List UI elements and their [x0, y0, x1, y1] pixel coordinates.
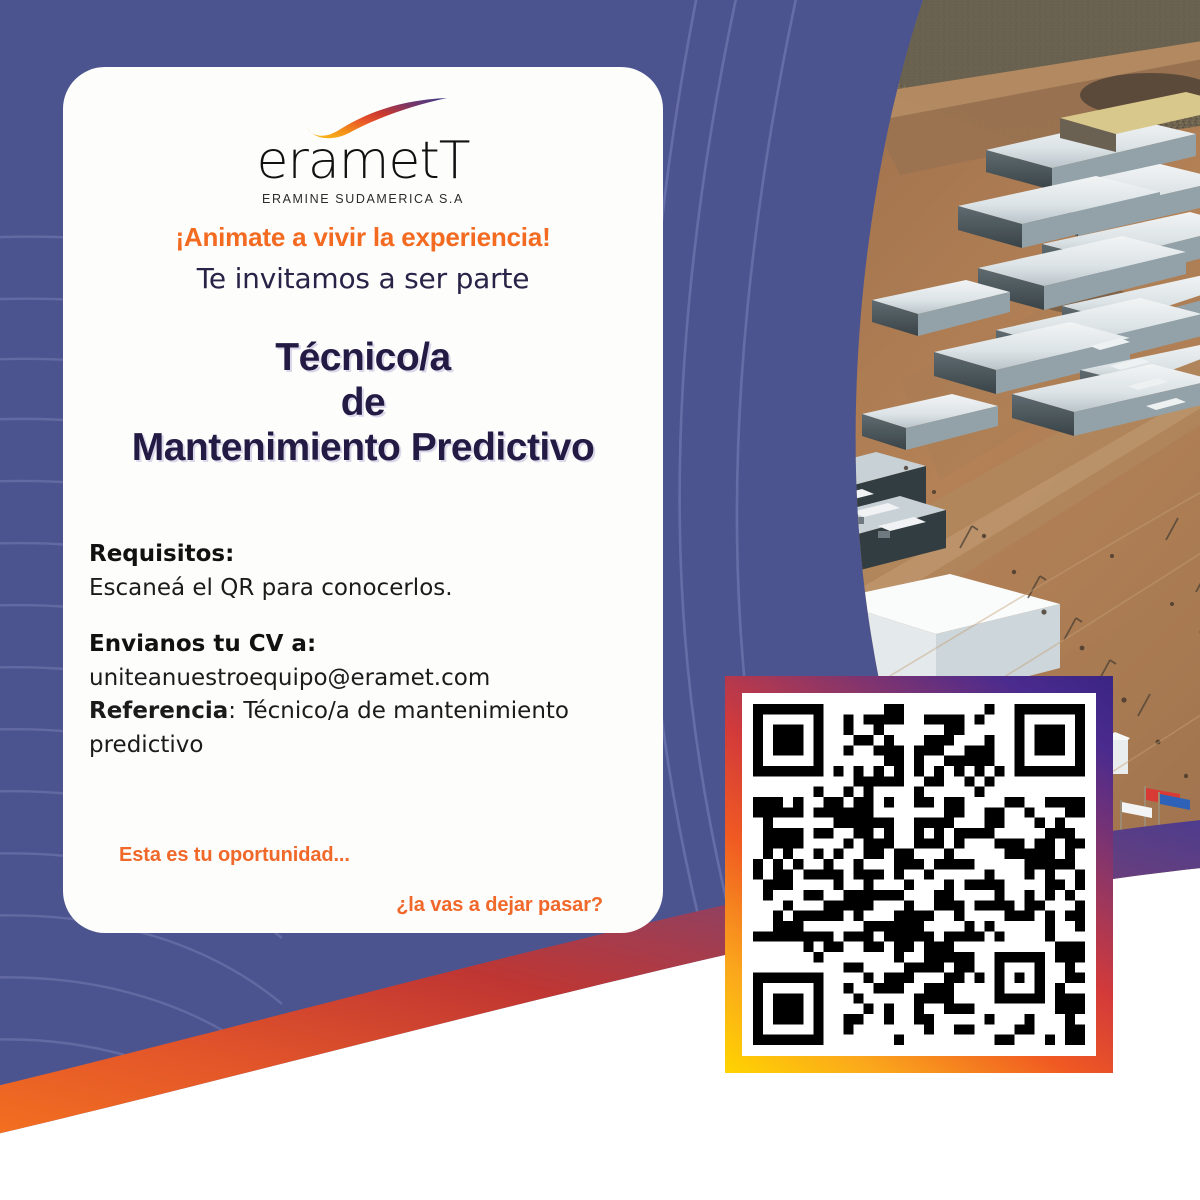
body-content: Requisitos: Escaneá el QR para conocerlo… — [89, 537, 641, 784]
logo-wordmark-cap: T — [439, 131, 470, 191]
poster-root: erametT ERAMINE SUDAMERICA S.A ¡Animate … — [0, 0, 1200, 1200]
requirements-heading: Requisitos: — [89, 537, 641, 572]
subkicker-text: Te invitamos a ser parte — [63, 262, 663, 295]
qr-code-quiet-zone — [742, 693, 1096, 1056]
job-title-line-1: Técnico/a — [63, 335, 663, 380]
reference-label: Referencia — [89, 698, 228, 724]
content-card: erametT ERAMINE SUDAMERICA S.A ¡Animate … — [63, 67, 663, 933]
qr-code[interactable] — [753, 704, 1085, 1045]
logo-wordmark: erametT — [256, 135, 469, 187]
requirements-text: Escaneá el QR para conocerlos. — [89, 572, 641, 606]
logo-wordmark-text: eramet — [256, 131, 438, 191]
kicker-text: ¡Animate a vivir la experiencia! — [63, 222, 663, 253]
job-title-line-3: Mantenimiento Predictivo — [63, 425, 663, 470]
cv-email[interactable]: uniteanuestroequipo@eramet.com — [89, 662, 641, 696]
job-title-line-2: de — [63, 380, 663, 425]
cta-line-2: ¿la vas a dejar pasar? — [396, 894, 603, 917]
cv-heading: Envianos tu CV a: — [89, 627, 641, 662]
page-title: Técnico/a de Mantenimiento Predictivo — [63, 335, 663, 471]
eramet-logo: erametT ERAMINE SUDAMERICA S.A — [63, 97, 663, 206]
logo-subtitle: ERAMINE SUDAMERICA S.A — [262, 192, 464, 206]
requirements-block: Requisitos: Escaneá el QR para conocerlo… — [89, 537, 641, 605]
cta-line-1: Esta es tu oportunidad... — [119, 844, 350, 867]
qr-code-frame — [725, 676, 1113, 1073]
cv-block: Envianos tu CV a: uniteanuestroequipo@er… — [89, 627, 641, 762]
reference-line: Referencia: Técnico/a de mantenimiento p… — [89, 695, 641, 762]
